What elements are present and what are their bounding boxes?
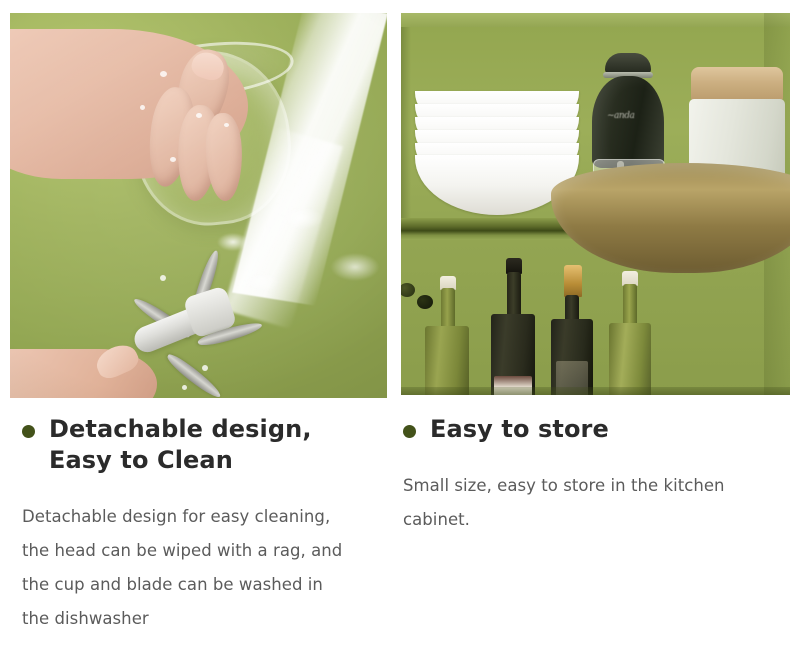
cabinet-hinge xyxy=(417,295,433,309)
bullet-dot-icon xyxy=(22,425,35,438)
feature-heading: Detachable design, Easy to Clean xyxy=(49,414,312,476)
wine-bottle xyxy=(609,271,651,395)
bottle-body xyxy=(425,326,469,395)
bottle-body xyxy=(609,323,651,395)
kitchen-cabinet-storage-photo: ∼𝑎𝑛𝑑𝑎 xyxy=(401,13,790,395)
bottle-neck xyxy=(623,284,637,328)
heading-row: Detachable design, Easy to Clean xyxy=(22,414,374,476)
cabinet-interior: ∼𝑎𝑛𝑑𝑎 xyxy=(401,13,790,395)
feature-description: Detachable design for easy cleaning, the… xyxy=(22,500,374,635)
washing-cup-and-blade-photo xyxy=(10,13,387,398)
bottle-cap xyxy=(564,265,582,297)
brass-bowl xyxy=(551,163,790,273)
bullet-dot-icon xyxy=(403,425,416,438)
wine-bottle xyxy=(551,265,593,395)
cabinet-left-wall xyxy=(401,27,411,227)
product-feature-board: ∼𝑎𝑛𝑑𝑎 xyxy=(0,0,790,658)
feature-description: Small size, easy to store in the kitchen… xyxy=(403,469,763,537)
brand-logo-icon: ∼𝑎𝑛𝑑𝑎 xyxy=(607,111,651,122)
feature-panel-easy-to-store: ∼𝑎𝑛𝑑𝑎 xyxy=(401,13,790,395)
feature-text-easy-to-store: Easy to store Small size, easy to store … xyxy=(403,414,763,537)
chopper-motor-body xyxy=(592,76,664,168)
shelf-bottom-edge xyxy=(401,387,790,395)
cabinet-top-edge xyxy=(401,13,790,27)
wine-bottle xyxy=(491,258,535,395)
cork-lid xyxy=(691,67,783,101)
heading-row: Easy to store xyxy=(403,414,763,445)
feature-panel-detachable-design xyxy=(10,13,387,398)
feature-heading: Easy to store xyxy=(430,414,609,445)
photo-vignette xyxy=(10,13,387,398)
cabinet-hinge xyxy=(401,283,415,297)
feature-text-detachable-design: Detachable design, Easy to Clean Detacha… xyxy=(22,414,374,636)
wine-bottle xyxy=(425,276,469,395)
bottle-neck xyxy=(507,272,521,320)
